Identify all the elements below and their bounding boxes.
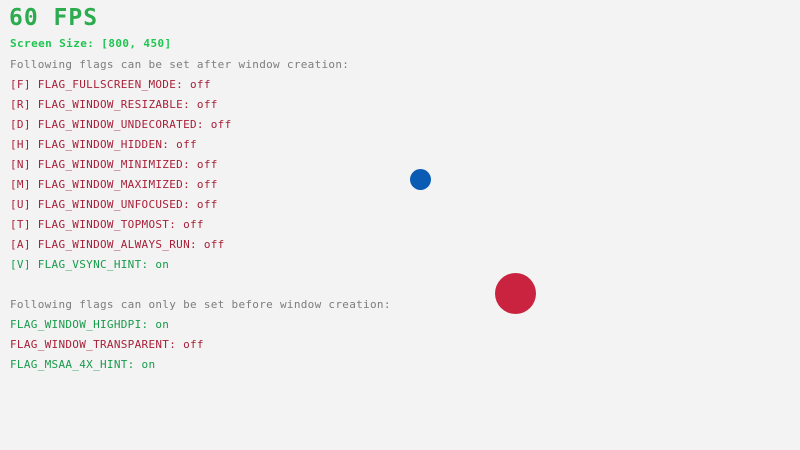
flag-label: [V] FLAG_VSYNC_HINT: on	[10, 258, 169, 271]
blue-circle	[410, 169, 431, 190]
before-creation-heading: Following flags can only be set before w…	[10, 298, 391, 311]
flag-row[interactable]: FLAG_MSAA_4X_HINT: on	[10, 358, 204, 378]
flag-row[interactable]: [M] FLAG_WINDOW_MAXIMIZED: off	[10, 178, 232, 198]
flag-label: [M] FLAG_WINDOW_MAXIMIZED: off	[10, 178, 218, 191]
flag-row[interactable]: FLAG_WINDOW_TRANSPARENT: off	[10, 338, 204, 358]
flag-label: [N] FLAG_WINDOW_MINIMIZED: off	[10, 158, 218, 171]
flag-row[interactable]: [V] FLAG_VSYNC_HINT: on	[10, 258, 232, 278]
flag-label: FLAG_WINDOW_HIGHDPI: on	[10, 318, 169, 331]
flag-row[interactable]: [D] FLAG_WINDOW_UNDECORATED: off	[10, 118, 232, 138]
flag-label: [H] FLAG_WINDOW_HIDDEN: off	[10, 138, 197, 151]
raylib-window-flags-demo: 60 FPS Screen Size: [800, 450] Following…	[0, 0, 800, 450]
flag-row[interactable]: [H] FLAG_WINDOW_HIDDEN: off	[10, 138, 232, 158]
flag-label: [U] FLAG_WINDOW_UNFOCUSED: off	[10, 198, 218, 211]
flag-label: [T] FLAG_WINDOW_TOPMOST: off	[10, 218, 204, 231]
fps-counter: 60 FPS	[9, 5, 98, 31]
flag-label: [D] FLAG_WINDOW_UNDECORATED: off	[10, 118, 232, 131]
flag-label: [F] FLAG_FULLSCREEN_MODE: off	[10, 78, 211, 91]
flag-row[interactable]: [F] FLAG_FULLSCREEN_MODE: off	[10, 78, 232, 98]
flag-row[interactable]: [T] FLAG_WINDOW_TOPMOST: off	[10, 218, 232, 238]
flag-label: FLAG_MSAA_4X_HINT: on	[10, 358, 155, 371]
flag-row[interactable]: [A] FLAG_WINDOW_ALWAYS_RUN: off	[10, 238, 232, 258]
flag-list-after-creation: [F] FLAG_FULLSCREEN_MODE: off[R] FLAG_WI…	[10, 78, 232, 278]
flag-label: FLAG_WINDOW_TRANSPARENT: off	[10, 338, 204, 351]
screen-size-label: Screen Size: [800, 450]	[10, 37, 172, 50]
red-circle	[495, 273, 536, 314]
flag-label: [R] FLAG_WINDOW_RESIZABLE: off	[10, 98, 218, 111]
flag-list-before-creation: FLAG_WINDOW_HIGHDPI: onFLAG_WINDOW_TRANS…	[10, 318, 204, 378]
flag-row[interactable]: [N] FLAG_WINDOW_MINIMIZED: off	[10, 158, 232, 178]
flag-row[interactable]: [U] FLAG_WINDOW_UNFOCUSED: off	[10, 198, 232, 218]
after-creation-heading: Following flags can be set after window …	[10, 58, 349, 71]
flag-label: [A] FLAG_WINDOW_ALWAYS_RUN: off	[10, 238, 225, 251]
flag-row[interactable]: FLAG_WINDOW_HIGHDPI: on	[10, 318, 204, 338]
flag-row[interactable]: [R] FLAG_WINDOW_RESIZABLE: off	[10, 98, 232, 118]
